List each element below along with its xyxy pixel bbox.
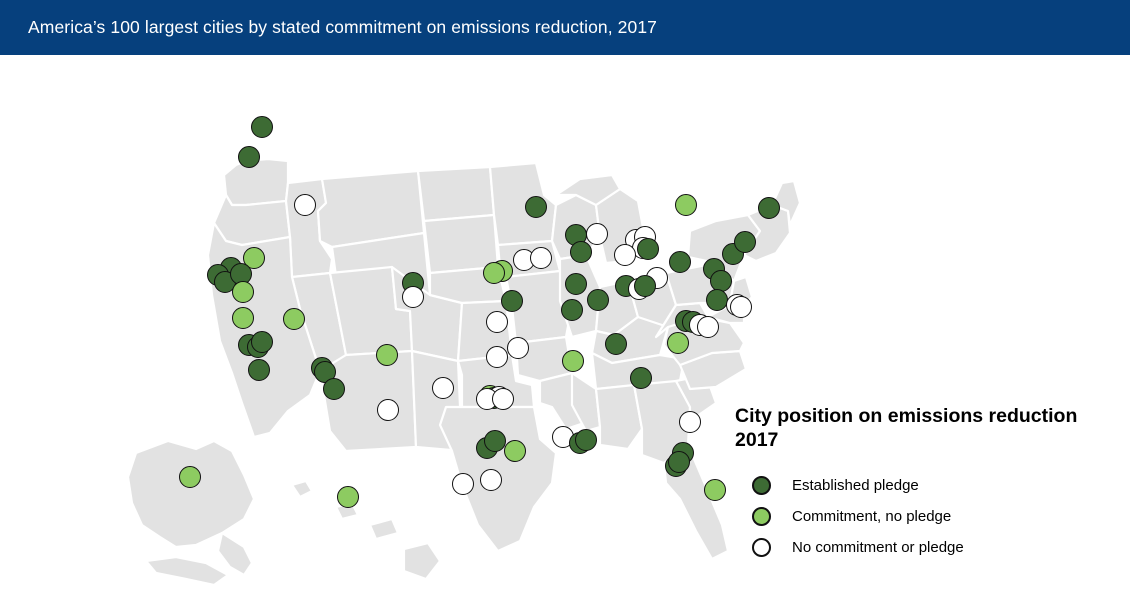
- city-marker[interactable]: [486, 346, 508, 368]
- city-marker[interactable]: [675, 194, 697, 216]
- city-marker[interactable]: [294, 194, 316, 216]
- city-marker[interactable]: [565, 273, 587, 295]
- city-marker[interactable]: [492, 388, 514, 410]
- city-marker[interactable]: [480, 469, 502, 491]
- city-marker[interactable]: [668, 451, 690, 473]
- legend-title: City position on emissions reduction 201…: [735, 405, 1113, 453]
- header-bar: America’s 100 largest cities by stated c…: [0, 0, 1130, 55]
- city-marker[interactable]: [251, 331, 273, 353]
- city-marker[interactable]: [758, 197, 780, 219]
- city-marker[interactable]: [483, 262, 505, 284]
- city-marker[interactable]: [337, 486, 359, 508]
- legend-swatch-no-commitment-icon: [752, 538, 771, 557]
- city-marker[interactable]: [561, 299, 583, 321]
- legend-item-pledge[interactable]: Established pledge: [735, 470, 1120, 501]
- city-marker[interactable]: [232, 281, 254, 303]
- city-marker[interactable]: [704, 479, 726, 501]
- city-marker[interactable]: [323, 378, 345, 400]
- city-marker[interactable]: [697, 316, 719, 338]
- city-marker[interactable]: [432, 377, 454, 399]
- legend-swatch-commitment-icon: [752, 507, 771, 526]
- city-marker[interactable]: [634, 275, 656, 297]
- legend-item-commitment[interactable]: Commitment, no pledge: [735, 501, 1120, 532]
- city-marker[interactable]: [679, 411, 701, 433]
- city-marker[interactable]: [575, 429, 597, 451]
- legend-swatch-pledge-icon: [752, 476, 771, 495]
- map-visualization: City position on emissions reduction 201…: [0, 55, 1130, 594]
- city-marker[interactable]: [587, 289, 609, 311]
- city-marker[interactable]: [637, 238, 659, 260]
- legend: City position on emissions reduction 201…: [735, 405, 1120, 563]
- city-marker[interactable]: [484, 430, 506, 452]
- city-marker[interactable]: [486, 311, 508, 333]
- city-marker[interactable]: [504, 440, 526, 462]
- city-marker[interactable]: [667, 332, 689, 354]
- city-marker[interactable]: [570, 241, 592, 263]
- city-marker[interactable]: [377, 399, 399, 421]
- city-marker[interactable]: [669, 251, 691, 273]
- city-marker[interactable]: [283, 308, 305, 330]
- city-marker[interactable]: [630, 367, 652, 389]
- city-marker[interactable]: [730, 296, 752, 318]
- city-marker[interactable]: [605, 333, 627, 355]
- city-marker[interactable]: [706, 289, 728, 311]
- city-marker[interactable]: [614, 244, 636, 266]
- city-marker[interactable]: [525, 196, 547, 218]
- legend-label-no-commitment: No commitment or pledge: [792, 539, 964, 556]
- city-marker[interactable]: [232, 307, 254, 329]
- city-marker[interactable]: [586, 223, 608, 245]
- legend-label-pledge: Established pledge: [792, 477, 919, 494]
- city-marker[interactable]: [562, 350, 584, 372]
- city-marker[interactable]: [238, 146, 260, 168]
- city-marker[interactable]: [402, 286, 424, 308]
- city-marker[interactable]: [507, 337, 529, 359]
- city-marker[interactable]: [179, 466, 201, 488]
- city-marker[interactable]: [530, 247, 552, 269]
- legend-label-commitment: Commitment, no pledge: [792, 508, 951, 525]
- city-marker[interactable]: [248, 359, 270, 381]
- page-title: America’s 100 largest cities by stated c…: [28, 0, 657, 55]
- legend-rows: Established pledge Commitment, no pledge…: [735, 470, 1120, 563]
- city-marker[interactable]: [376, 344, 398, 366]
- city-marker[interactable]: [452, 473, 474, 495]
- city-marker[interactable]: [251, 116, 273, 138]
- legend-item-no-commitment[interactable]: No commitment or pledge: [735, 532, 1120, 563]
- city-marker[interactable]: [734, 231, 756, 253]
- city-marker[interactable]: [501, 290, 523, 312]
